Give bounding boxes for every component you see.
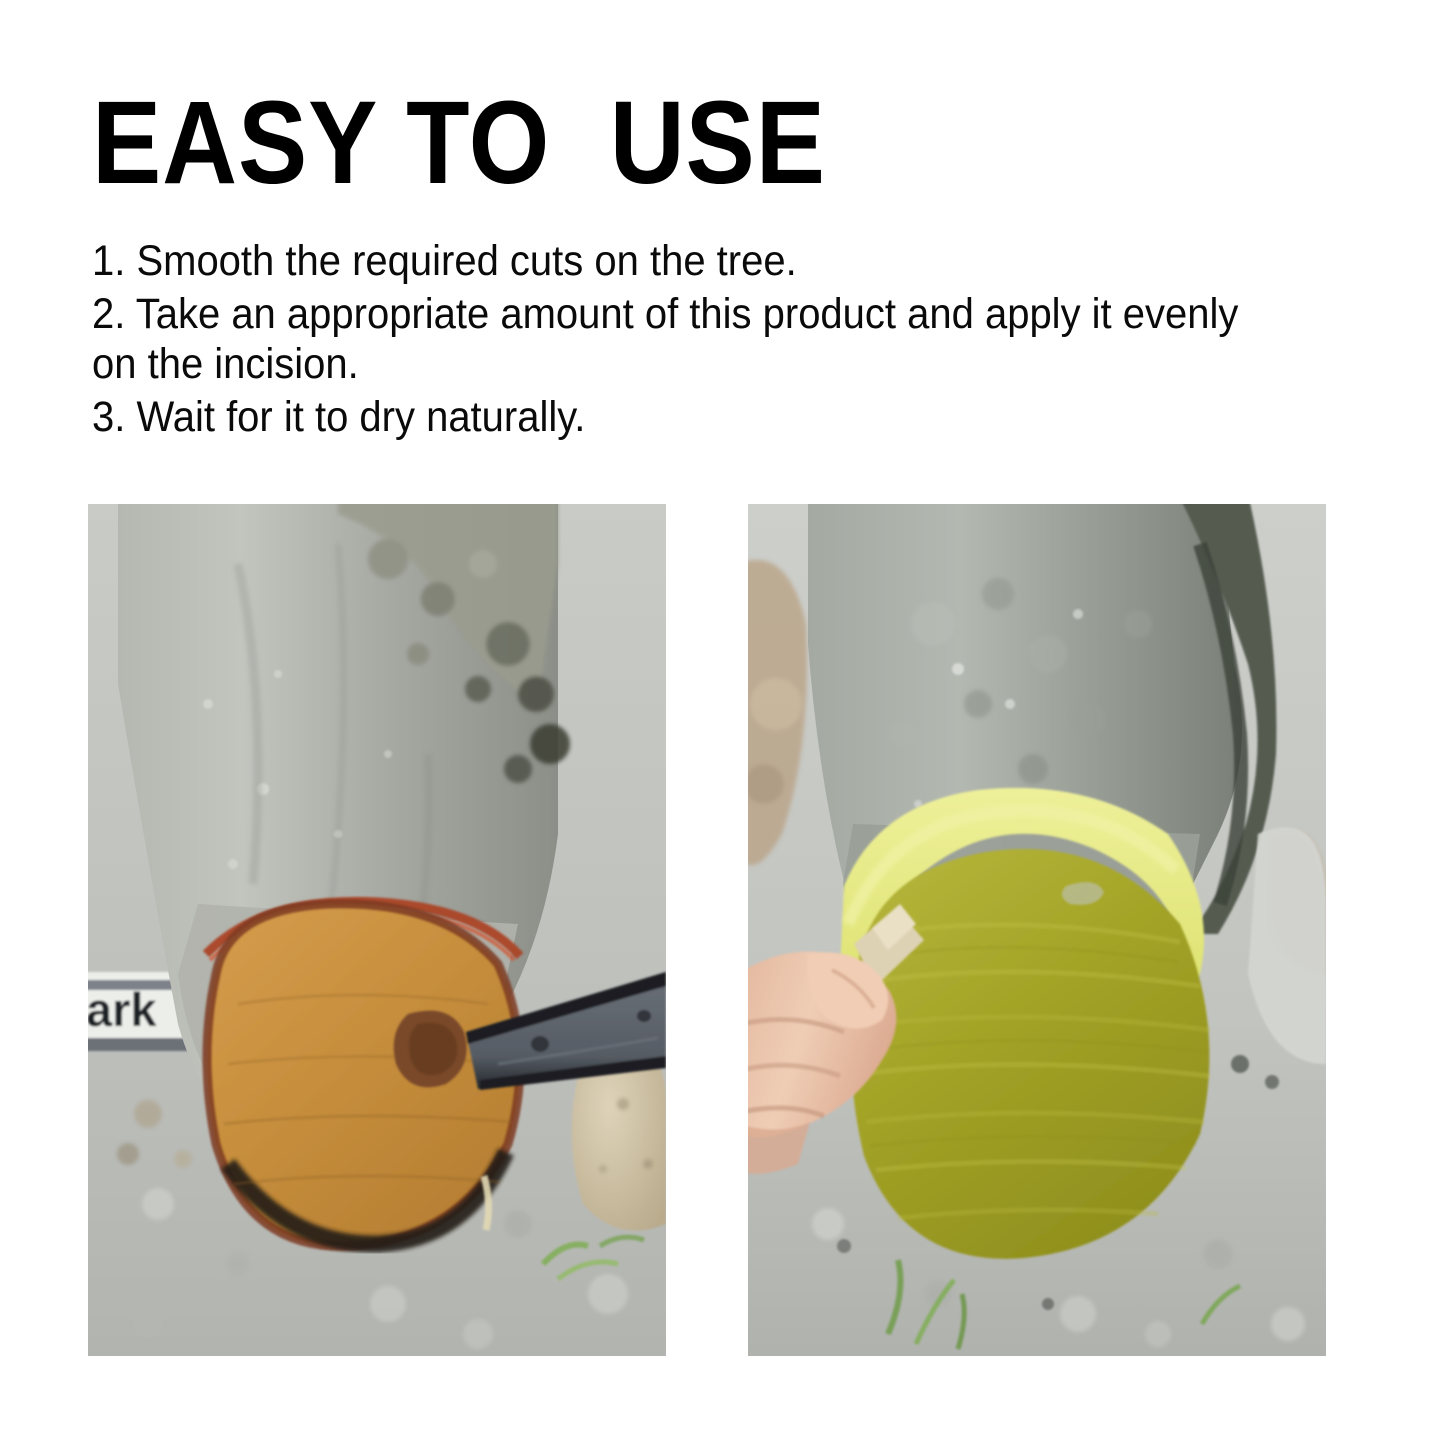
step-one-photo: ark: [88, 504, 666, 1356]
photo-gallery: ark: [88, 504, 1328, 1356]
step-two-photo: [748, 504, 1326, 1356]
instruction-step-1: 1. Smooth the required cuts on the tree.: [92, 236, 1264, 287]
brand-label-text: ark: [88, 983, 157, 1036]
step-two-illustration: [748, 504, 1326, 1356]
instruction-list: 1. Smooth the required cuts on the tree.…: [92, 236, 1264, 445]
page-title: EASY TO USE: [92, 84, 826, 202]
step-one-illustration: ark: [88, 504, 666, 1356]
instruction-step-3: 3. Wait for it to dry naturally.: [92, 392, 1264, 443]
instruction-step-2: 2. Take an appropriate amount of this pr…: [92, 289, 1264, 390]
